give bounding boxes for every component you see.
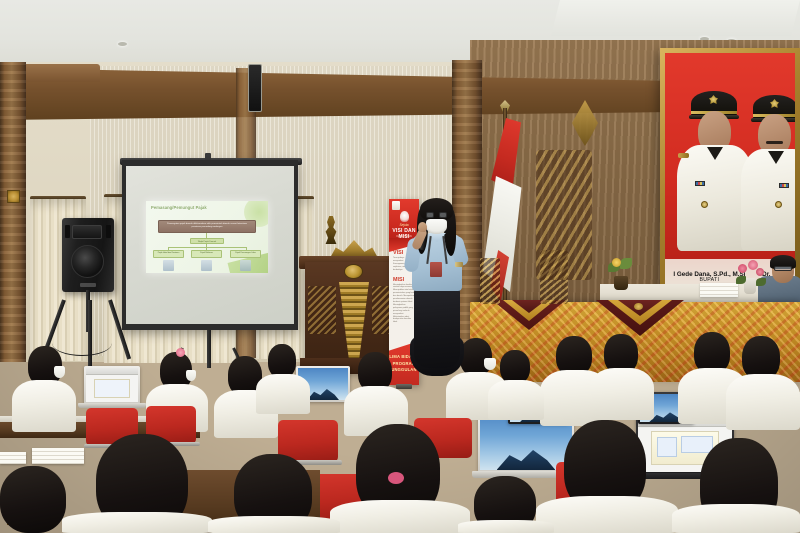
speaker-port-icon	[65, 225, 70, 238]
speaker-brand-badge	[80, 283, 96, 287]
banner-base-stand	[396, 384, 412, 389]
audience-shirt-foreground	[672, 504, 800, 533]
slide-icon-2	[201, 260, 212, 271]
audience-shirt	[12, 380, 76, 432]
book-stack	[0, 452, 26, 464]
plant-pot	[614, 276, 628, 290]
slide-mid-box: Wajib Pajak Daerah	[190, 238, 224, 244]
audience-head	[268, 344, 296, 378]
speaker-cable	[52, 330, 112, 356]
photo-scene: Pemasang/Pemungut Pajak Pemungutan pajak…	[0, 0, 800, 533]
slide-connector-bus	[168, 247, 246, 248]
slide-icon-1	[163, 260, 174, 271]
downlight-icon	[118, 42, 127, 46]
presentation-slide: Pemasang/Pemungut Pajak Pemungutan pajak…	[146, 201, 268, 273]
banner-script-text: Sejuta	[389, 223, 419, 227]
presenter-skirt	[414, 288, 460, 368]
gold-inlay-ornament	[7, 190, 20, 203]
lens-right	[439, 212, 447, 218]
plant-flower	[612, 258, 621, 267]
face-mask-icon	[484, 358, 496, 370]
eyeglasses-icon	[774, 266, 792, 271]
speaker-port-icon	[106, 225, 111, 238]
slide-title: Pemasang/Pemungut Pajak	[151, 205, 207, 210]
slide-header-box: Pemungutan pajak daerah dilaksanakan ole…	[158, 220, 256, 233]
presenter-id-badge	[430, 262, 442, 277]
audience-shirt	[256, 374, 310, 414]
banner-section-body-misi: Meningkatkan kualitas sumber daya manusi…	[393, 284, 415, 325]
wristwatch-icon	[455, 262, 463, 267]
audience-shirt	[726, 374, 800, 430]
medal-icon	[701, 201, 708, 208]
speaker-horn-icon	[72, 225, 102, 239]
pa-speaker	[62, 218, 114, 292]
ribbon-bar-icon	[779, 183, 789, 188]
podium-emblem-icon	[344, 264, 363, 279]
page-card	[681, 436, 713, 453]
lens-left	[426, 212, 434, 218]
ceiling-recess	[551, 0, 800, 36]
laptop-left-front[interactable]	[84, 366, 140, 404]
flower-leaf	[756, 278, 766, 286]
audience-shirt-foreground	[458, 520, 554, 533]
portrait-tie-right	[768, 151, 784, 164]
podium-carving-left	[308, 286, 336, 334]
portrait-uniform-right	[741, 149, 795, 251]
audience-head	[500, 350, 530, 384]
eyeglasses-icon	[426, 212, 447, 218]
mustache-icon	[766, 141, 783, 144]
laptop-screen-document	[86, 368, 138, 402]
slide-leaf-box: Pajak Reklame	[191, 250, 222, 258]
hair-flower-icon	[176, 348, 185, 357]
audience-head-foreground	[0, 466, 66, 533]
paper-stack	[700, 283, 738, 297]
hair-tie-icon	[388, 472, 404, 484]
plant-leaf	[620, 258, 632, 269]
portrait-canvas: I Gede Dana, S.Pd., M.Si BUPATI Dr. I W.…	[665, 53, 795, 287]
wall-carved-screen	[536, 150, 592, 280]
flower-leaf	[736, 276, 746, 284]
banner-seal-icon	[400, 211, 409, 222]
slide-leaf-box: Pajak Hotel dan Restoran	[153, 250, 184, 258]
browser-toolbar	[86, 368, 138, 375]
face-mask-icon	[186, 370, 196, 381]
face-mask-icon	[54, 366, 65, 378]
portrait-tie-left	[707, 147, 723, 160]
medal-icon	[775, 201, 782, 208]
slide-leaf-box: Pajak Penerangan Jalan	[230, 250, 261, 258]
column-grain	[0, 62, 26, 362]
carved-ornament-stand	[480, 258, 500, 304]
audience-shirt	[590, 368, 654, 420]
presenter-hand	[418, 222, 427, 232]
slide-icon-3	[240, 260, 251, 271]
document-page	[94, 379, 129, 398]
banner-logo-icon	[392, 201, 400, 210]
book-stack	[32, 448, 84, 464]
page-card	[657, 437, 678, 457]
screen-stand-pole	[207, 330, 211, 368]
face-mask-icon	[426, 219, 447, 234]
speaker-woofer-icon	[71, 245, 104, 278]
valance-medallion-icon	[634, 303, 643, 310]
ribbon-bar-icon	[695, 181, 705, 186]
epaulette-icon	[678, 153, 689, 158]
audience-shirt	[488, 380, 544, 420]
audience-shirt-foreground	[62, 512, 212, 533]
flower-petal	[738, 264, 747, 273]
audience-shirt-foreground	[330, 500, 470, 533]
flower-petal	[756, 268, 764, 276]
audience-shirt-foreground	[208, 516, 340, 533]
audience-shirt-foreground	[536, 496, 678, 533]
audience-head	[460, 338, 492, 376]
wall-speaker-icon	[248, 64, 262, 112]
